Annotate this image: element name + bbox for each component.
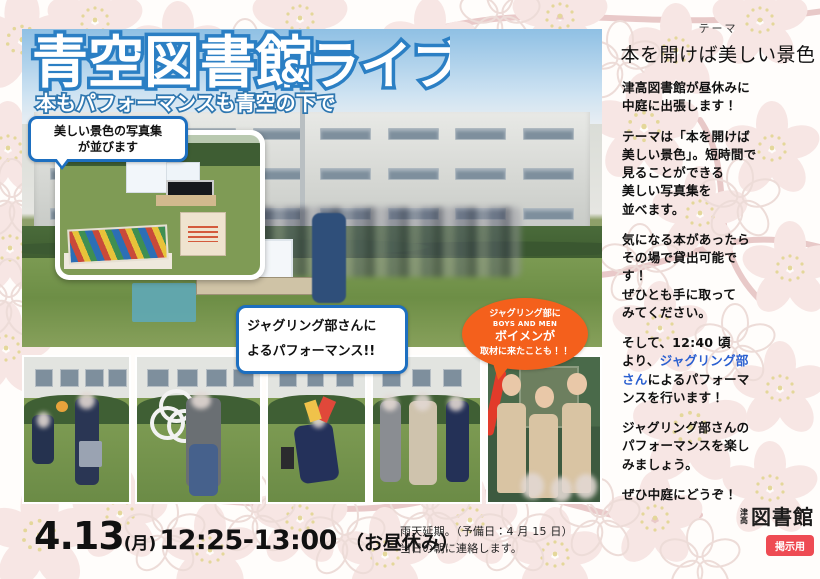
title-subtitle: 本もパフォーマンスも青空の下で bbox=[35, 91, 336, 115]
strip5-blur-audience-3 bbox=[575, 474, 596, 499]
juggler-performer bbox=[312, 213, 346, 303]
strip4-person-center bbox=[409, 401, 437, 485]
book-cart bbox=[132, 283, 196, 321]
callout-juggling-line1: ジャグリング部さんに bbox=[247, 315, 397, 340]
sidebar-text-column: テーマ 本を開けば美しい景色 津高図書館が昼休みに 中庭に出張します！ テーマは… bbox=[616, 10, 820, 570]
poster-title-block: 青空図書館 & ライブ! 本もパフォーマンスも青空の下で bbox=[30, 22, 450, 121]
strip4-person-right bbox=[446, 401, 469, 482]
footer-day-of-week: (月) bbox=[124, 536, 157, 553]
sidebar-paragraph-4: そして、12:40 頃 より、ジャグリング部 さんによるパフォーマ ンスを行いま… bbox=[622, 334, 820, 407]
rain-notice-line1: 雨天延期。（予備日：4 月 15 日） bbox=[400, 523, 573, 540]
theme-title: 本を開けば美しい景色 bbox=[616, 40, 820, 67]
strip5-blur-audience-2 bbox=[551, 477, 572, 502]
callout-boysandmen-bubble: ジャグリング部に BOYS AND MEN ボイメンが 取材に来たことも！！ bbox=[462, 298, 588, 370]
sidebar-paragraph-2: テーマは「本を開けば 美しい景色」。短時間で 見ることができる 美しい写真集を … bbox=[622, 128, 820, 219]
strip1-skirt bbox=[79, 441, 102, 467]
strip4-person-left bbox=[380, 401, 401, 482]
title-live: ライブ! bbox=[308, 37, 450, 97]
strip1-blur-face-2 bbox=[78, 392, 95, 409]
sidebar-paragraph-5: ジャグリング部さんの パフォーマンスを楽し みましょう。 bbox=[622, 419, 820, 474]
orange-line-1: ジャグリング部に bbox=[489, 309, 561, 320]
inset-desk bbox=[156, 195, 216, 206]
sidebar-paragraph-1: 津高図書館が昼休みに 中庭に出張します！ bbox=[622, 79, 820, 116]
sidebar-paragraph-3: 気になる本があったら その場で貸出可能で す！ ぜひとも手に取って みてください… bbox=[622, 231, 820, 322]
footer-datetime-bar: 4.13 (月) 12:25-13:00 （お昼休み） 雨天延期。（予備日：4 … bbox=[0, 505, 616, 579]
callout-juggling-line2: よるパフォーマンス!! bbox=[247, 340, 397, 365]
strip3-bin bbox=[281, 447, 294, 469]
orange-line-3: ボイメンが bbox=[495, 329, 555, 344]
strip4-blur-face-2 bbox=[414, 393, 431, 410]
strip5-blur-audience-1 bbox=[521, 473, 543, 499]
orange-line-2: BOYS AND MEN bbox=[493, 320, 557, 329]
strip2-jeans bbox=[189, 444, 218, 496]
logo-badge-posting: 掲示用 bbox=[766, 535, 814, 556]
logo-prefix: 津 高 bbox=[740, 509, 749, 524]
strip-photo-3 bbox=[266, 355, 368, 504]
strip-photo-2 bbox=[135, 355, 261, 504]
theme-label: テーマ bbox=[616, 20, 820, 36]
callout-photo-books-line2: が並びます bbox=[37, 139, 179, 155]
callout-photo-books-line1: 美しい景色の写真集 bbox=[37, 123, 179, 139]
strip-photo-4 bbox=[371, 355, 481, 504]
strip3-person-lunging bbox=[293, 421, 340, 484]
library-logo: 津 高 図書館 掲示用 bbox=[740, 501, 814, 556]
footer-time-range: 12:25-13:00 bbox=[159, 527, 337, 554]
inset-standing-sign bbox=[180, 212, 226, 256]
poster-canvas: 青空図書館 & ライブ! 本もパフォーマンスも青空の下で 美しい景色の写真集 が… bbox=[0, 0, 820, 579]
strip-photo-1 bbox=[22, 355, 131, 504]
strip2-blur-face bbox=[191, 392, 211, 409]
footer-date: 4.13 bbox=[34, 517, 124, 555]
title-ampersand: & bbox=[280, 55, 306, 90]
photo-strip bbox=[22, 355, 602, 504]
strip5-member-3-head bbox=[567, 373, 586, 395]
footer-dateline: 4.13 (月) 12:25-13:00 （お昼休み） bbox=[34, 517, 459, 555]
callout-tail bbox=[53, 159, 71, 170]
orange-line-4: 取材に来たことも！！ bbox=[480, 346, 570, 360]
strip1-building bbox=[24, 357, 129, 398]
title-svg: 青空図書館 & ライブ! 本もパフォーマンスも青空の下で bbox=[30, 22, 450, 117]
strip4-blur-face-3 bbox=[448, 395, 464, 411]
callout-juggling-performance: ジャグリング部さんに よるパフォーマンス!! bbox=[236, 305, 408, 374]
title-main: 青空図書館 bbox=[32, 31, 312, 96]
logo-library-name: 図書館 bbox=[751, 501, 814, 530]
inset-book-stack bbox=[67, 225, 169, 265]
logo-name-row: 津 高 図書館 bbox=[740, 501, 814, 530]
callout-photo-books: 美しい景色の写真集 が並びます bbox=[28, 116, 188, 162]
footer-rain-notice: 雨天延期。（予備日：4 月 15 日） 当日の朝に連絡します。 bbox=[400, 523, 573, 557]
logo-prefix-bottom: 高 bbox=[740, 517, 749, 525]
rain-notice-line2: 当日の朝に連絡します。 bbox=[400, 540, 573, 557]
strip4-blur-face-1 bbox=[382, 395, 398, 411]
strip-photo-5-boysandmen bbox=[486, 355, 602, 504]
strip5-member-2-head bbox=[535, 386, 554, 408]
